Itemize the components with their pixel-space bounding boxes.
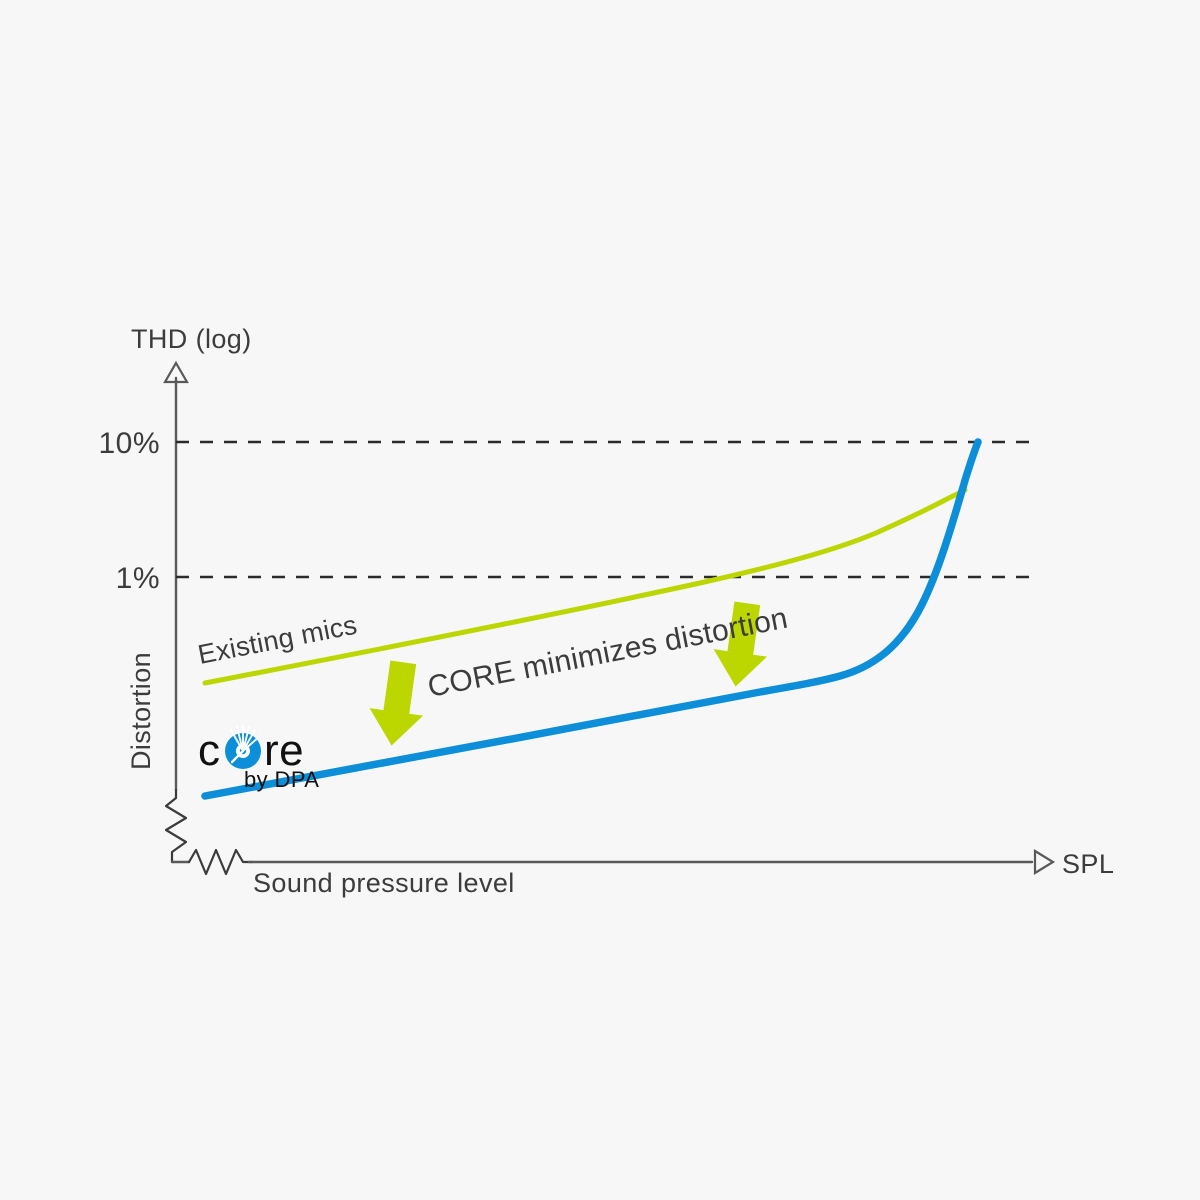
label-existing-mics: Existing mics bbox=[195, 610, 359, 670]
ytick-label-10-percent: 10% bbox=[98, 427, 160, 460]
logo-capsule-icon bbox=[225, 726, 261, 769]
ytick-label-1-percent: 1% bbox=[116, 562, 160, 595]
gridlines-group bbox=[176, 442, 1040, 577]
down-arrow-left-icon bbox=[365, 659, 430, 750]
x-axis-end-title: SPL bbox=[1062, 849, 1114, 879]
logo-text-c: c bbox=[198, 726, 221, 775]
x-axis-bottom-title: Sound pressure level bbox=[253, 868, 515, 898]
y-axis-side-title: Distortion bbox=[126, 652, 156, 770]
y-axis-break-zigzag bbox=[166, 790, 186, 862]
core-by-dpa-logo: c re by DPA bbox=[198, 726, 319, 792]
thd-vs-spl-chart: 10% 1% THD (log) Distortion Sound pressu… bbox=[0, 0, 1200, 1200]
logo-text-by-dpa: by DPA bbox=[244, 767, 319, 792]
y-axis-top-title: THD (log) bbox=[131, 324, 252, 354]
axes-group bbox=[165, 363, 1053, 874]
x-axis-arrowhead-icon bbox=[1035, 851, 1053, 873]
x-axis-break-zigzag bbox=[189, 850, 252, 874]
chart-figure: 10% 1% THD (log) Distortion Sound pressu… bbox=[0, 0, 1200, 1200]
